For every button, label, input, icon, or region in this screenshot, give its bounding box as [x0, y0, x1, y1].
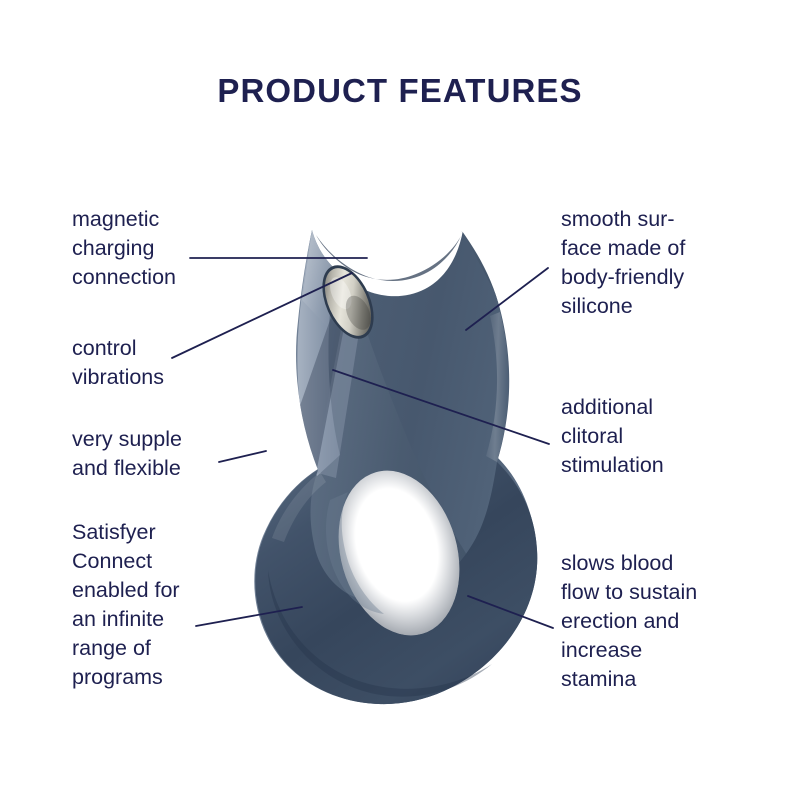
feature-label-magnetic-charging-connection: magnetic charging connection: [72, 205, 176, 292]
product-features-infographic: PRODUCT FEATURES: [0, 0, 800, 800]
feature-label-smooth-surface-silicone: smooth sur- face made of body-friendly s…: [561, 205, 685, 321]
product-ring: [255, 456, 537, 704]
feature-label-additional-clitoral-stimulation: additional clitoral stimulation: [561, 393, 664, 480]
feature-label-control-vibrations: control vibrations: [72, 334, 164, 392]
feature-label-very-supple-and-flexible: very supple and flexible: [72, 425, 182, 483]
feature-label-slows-blood-flow: slows blood flow to sustain erection and…: [561, 549, 697, 694]
feature-label-satisfyer-connect: Satisfyer Connect enabled for an infinit…: [72, 518, 180, 692]
